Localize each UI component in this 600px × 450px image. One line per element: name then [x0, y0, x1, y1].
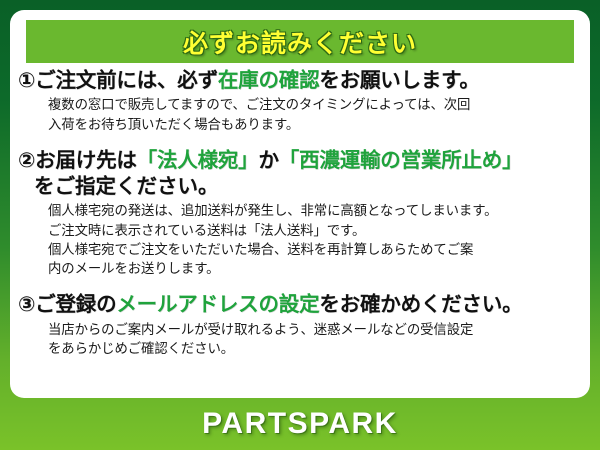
highlighted-phrase: メールアドレスの設定	[116, 293, 319, 316]
notice-item-body-line: 内のメールをお送りします。	[48, 259, 580, 278]
heading-text: をお願いします。	[319, 69, 479, 92]
notice-item-body-line: をあらかじめご確認ください。	[48, 339, 580, 358]
notice-item-heading: ②お届け先は「法人様宛」か「西濃運輸の営業所止め」	[10, 148, 590, 174]
brand-name: PARTSPARK	[202, 407, 398, 441]
heading-text: ご登録の	[35, 293, 116, 316]
highlighted-phrase: 「西濃運輸の営業所止め」	[279, 149, 523, 172]
notice-item-body-line: 当店からのご案内メールが受け取れるよう、迷惑メールなどの受信設定	[48, 320, 580, 339]
notice-item: ②お届け先は「法人様宛」か「西濃運輸の営業所止め」をご指定ください。個人様宅宛の…	[10, 148, 590, 279]
notice-banner: 必ずお読みください ①ご注文前には、必ず在庫の確認をお願いします。複数の窓口で販…	[0, 0, 600, 450]
notice-item-marker: ①	[18, 69, 35, 92]
notice-item-body-line: ご注文時に表示されている送料は「法人送料」です。	[48, 221, 580, 240]
notice-item-body: 複数の窓口で販売してますので、ご注文のタイミングによっては、次回入荷をお待ち頂い…	[10, 94, 590, 134]
notice-title: 必ずお読みください	[183, 24, 417, 60]
notice-item-heading: ①ご注文前には、必ず在庫の確認をお願いします。	[10, 68, 590, 94]
notice-item-body-line: 複数の窓口で販売してますので、ご注文のタイミングによっては、次回	[48, 95, 580, 114]
notice-item-body-line: 個人様宅宛でご注文をいただいた場合、送料を再計算しあらためてご案	[48, 240, 580, 259]
notice-card: 必ずお読みください ①ご注文前には、必ず在庫の確認をお願いします。複数の窓口で販…	[10, 10, 590, 398]
notice-item-body: 個人様宅宛の発送は、追加送料が発生し、非常に高額となってしまいます。ご注文時に表…	[10, 200, 590, 278]
spacer	[10, 136, 590, 148]
footer-bar: PARTSPARK	[0, 398, 600, 450]
notice-item-marker: ③	[18, 293, 35, 316]
notice-item-marker: ②	[18, 149, 35, 172]
notice-item-body-line: 入荷をお待ち頂いただく場合もあります。	[48, 115, 580, 134]
notice-item-body-line: 個人様宅宛の発送は、追加送料が発生し、非常に高額となってしまいます。	[48, 201, 580, 220]
heading-text: か	[258, 149, 278, 172]
heading-text: をお確かめください。	[319, 293, 522, 316]
notice-item-heading: ③ご登録のメールアドレスの設定をお確かめください。	[10, 292, 590, 318]
heading-text: ご注文前には、必ず	[35, 69, 218, 92]
notice-item: ③ご登録のメールアドレスの設定をお確かめください。当店からのご案内メールが受け取…	[10, 292, 590, 358]
heading-text: お届け先は	[35, 149, 137, 172]
highlighted-phrase: 「法人様宛」	[137, 149, 259, 172]
notice-item: ①ご注文前には、必ず在庫の確認をお願いします。複数の窓口で販売してますので、ご注…	[10, 68, 590, 134]
notice-item-heading-line2: をご指定ください。	[10, 174, 590, 200]
notice-item-body: 当店からのご案内メールが受け取れるよう、迷惑メールなどの受信設定をあらかじめご確…	[10, 319, 590, 359]
title-banner: 必ずお読みください	[26, 20, 574, 63]
notice-items-list: ①ご注文前には、必ず在庫の確認をお願いします。複数の窓口で販売してますので、ご注…	[10, 68, 590, 360]
spacer	[10, 280, 590, 292]
highlighted-phrase: 在庫の確認	[218, 69, 320, 92]
